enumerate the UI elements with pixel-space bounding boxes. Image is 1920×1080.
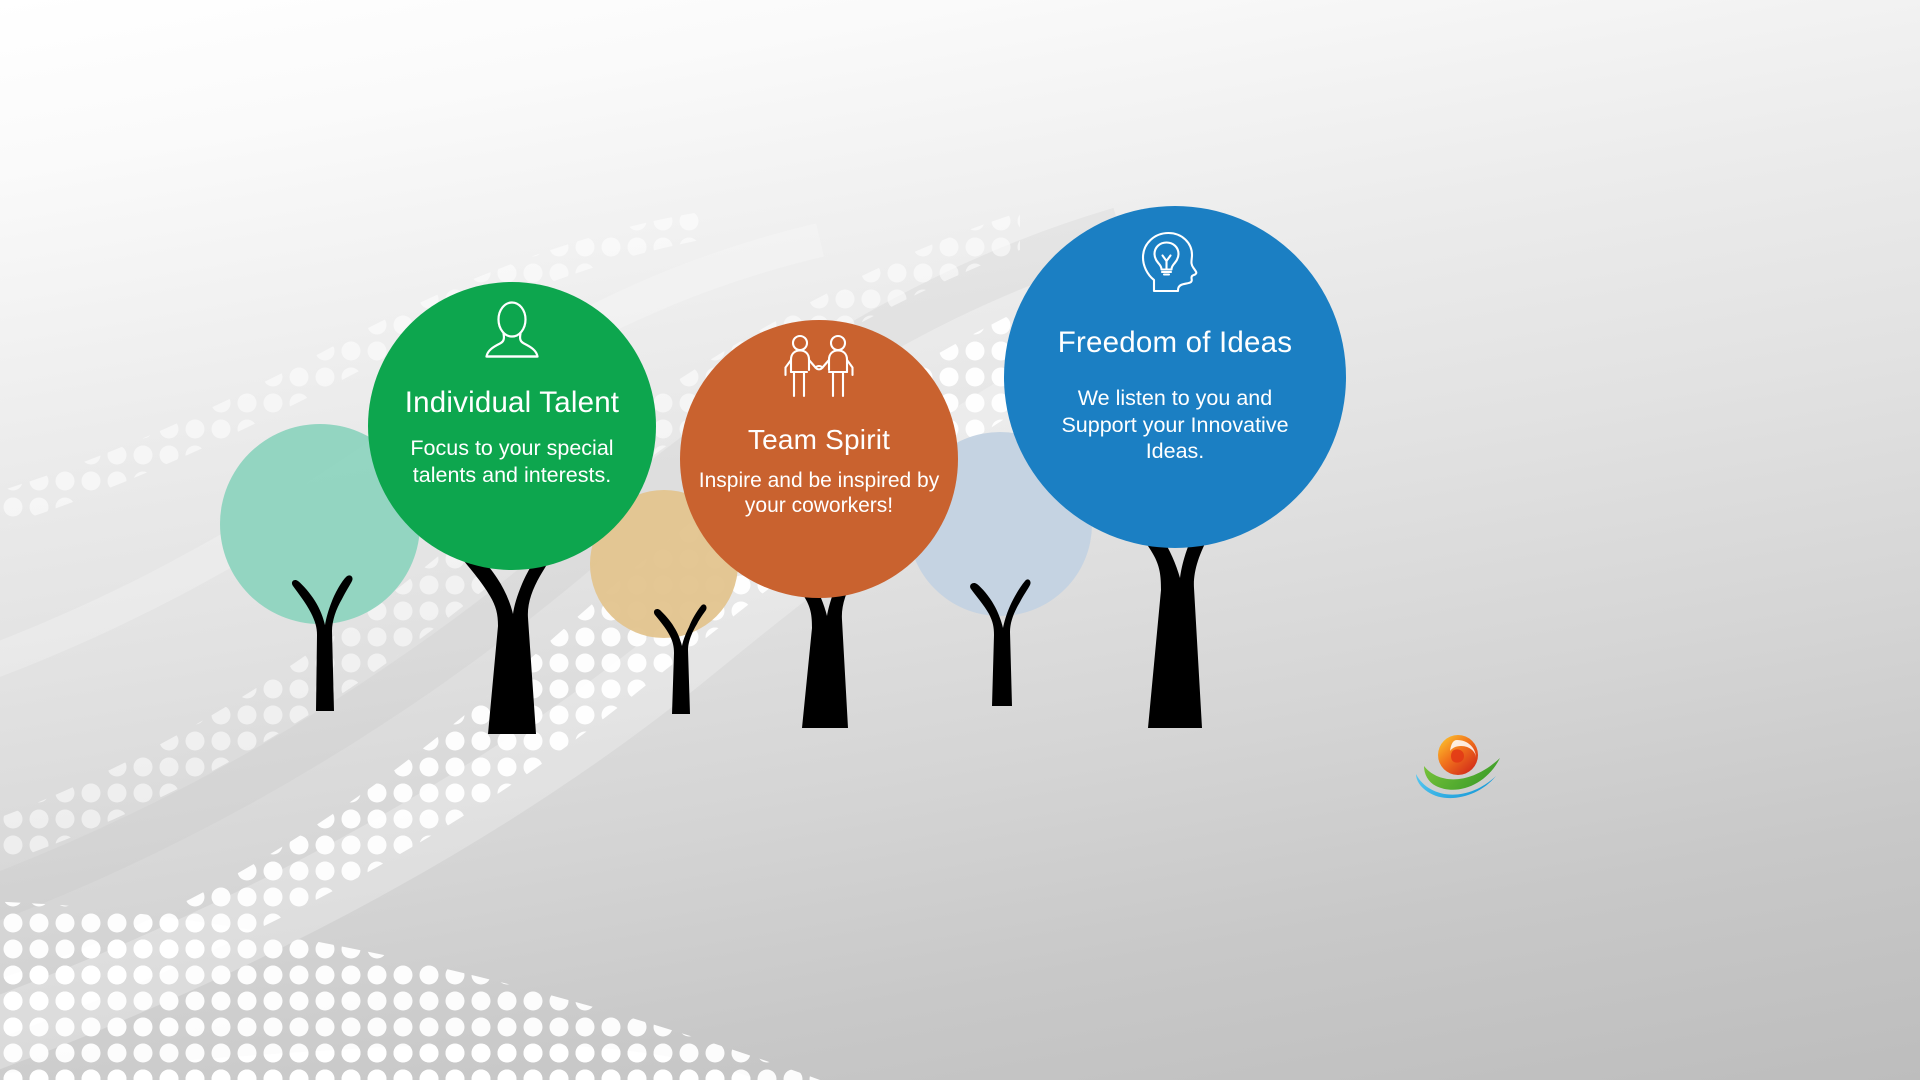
concept-body: Focus to your special talents and intere… bbox=[387, 435, 637, 487]
company-logo bbox=[1412, 728, 1512, 806]
tree-small-right bbox=[952, 548, 1056, 706]
person-icon bbox=[479, 300, 545, 367]
concept-title: Team Spirit bbox=[748, 425, 890, 456]
tree-small-left bbox=[270, 535, 380, 711]
concept-body: Inspire and be inspired by your coworker… bbox=[693, 468, 945, 519]
concept-title: Freedom of Ideas bbox=[1058, 327, 1292, 359]
tree-small-middle bbox=[634, 580, 730, 714]
concept-title: Individual Talent bbox=[405, 387, 619, 419]
concept-circle-individual-talent[interactable]: Individual Talent Focus to your special … bbox=[368, 282, 656, 570]
dot-field-bottom-left bbox=[0, 700, 1200, 1080]
concept-body: We listen to you and Support your Innova… bbox=[1039, 385, 1311, 464]
slide-canvas: Individual Talent Focus to your special … bbox=[0, 0, 1920, 1080]
logo-orb-inner-dot bbox=[1451, 749, 1464, 762]
handshake-icon bbox=[777, 334, 861, 407]
concept-circle-team-spirit[interactable]: Team Spirit Inspire and be inspired by y… bbox=[680, 320, 958, 598]
head-lightbulb-icon bbox=[1137, 228, 1213, 309]
concept-circle-freedom-of-ideas[interactable]: Freedom of Ideas We listen to you and Su… bbox=[1004, 206, 1346, 548]
